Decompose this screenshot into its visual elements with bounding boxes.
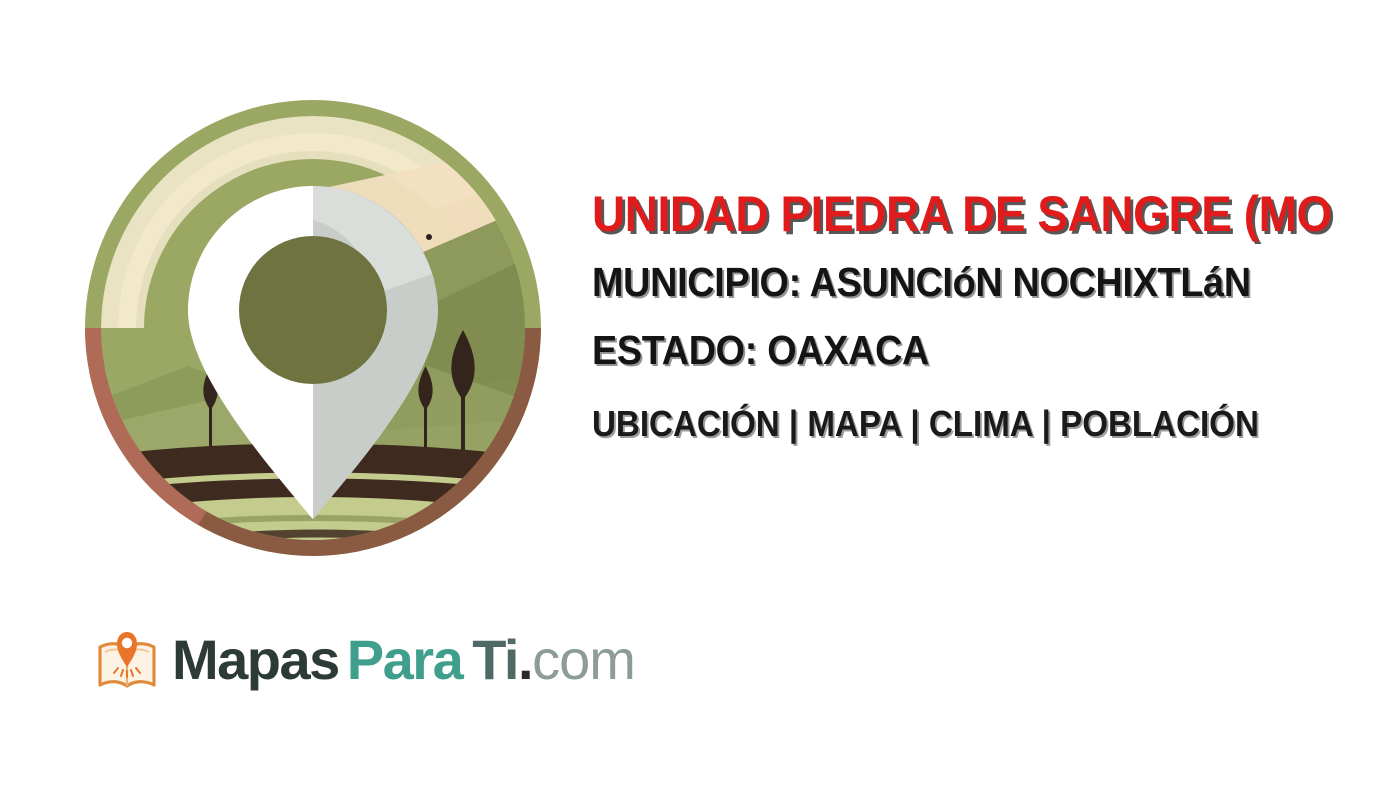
sections-line: UBICACIÓN | MAPA | CLIMA | POBLACIÓN: [592, 402, 1259, 446]
info-text-column: UNIDAD PIEDRA DE SANGRE (MO MUNICIPIO: A…: [592, 0, 1400, 786]
wordmark-para: Para: [347, 632, 462, 688]
site-logo[interactable]: Mapas Para Ti . com: [96, 617, 566, 703]
open-book-pin-icon: [96, 627, 158, 693]
municipio-line: MUNICIPIO: ASUNCIóN NOCHIXTLáN: [592, 258, 1251, 306]
page-title: UNIDAD PIEDRA DE SANGRE (MO: [592, 186, 1332, 242]
info-card: Mapas Para Ti . com UNIDAD PIEDRA DE SAN…: [0, 0, 1400, 786]
landscape-location-badge-icon: [78, 78, 548, 578]
estado-line: ESTADO: OAXACA: [592, 326, 929, 374]
wordmark-text: Mapas Para Ti . com: [172, 632, 635, 688]
wordmark-mapas: Mapas: [172, 632, 339, 688]
wordmark-dot: .: [518, 632, 532, 688]
brand-column: Mapas Para Ti . com: [0, 0, 580, 786]
wordmark-ti: Ti: [472, 632, 518, 688]
